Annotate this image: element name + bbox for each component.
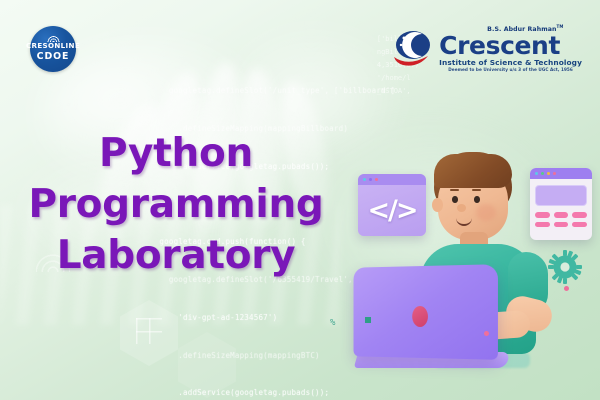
dot-decoration bbox=[564, 286, 569, 291]
eye-left bbox=[452, 196, 458, 203]
nose bbox=[457, 204, 466, 212]
hexagon-watermark-icon bbox=[178, 332, 236, 398]
ear bbox=[432, 198, 443, 212]
cresonline-cdoe-logo[interactable]: CRESONLINE CDOE bbox=[30, 26, 76, 72]
eyebrow-left bbox=[450, 189, 459, 191]
course-banner: googletag.defineSlot('/unit_type', ['bil… bbox=[0, 0, 600, 400]
crescent-subtitle: Institute of Science & Technology bbox=[439, 58, 582, 67]
laptop-logo bbox=[412, 306, 428, 327]
laptop-lid bbox=[354, 264, 498, 360]
square-decoration bbox=[365, 317, 371, 323]
crescent-fineprint: Deemed to be University u/s 3 of the UGC… bbox=[439, 67, 582, 73]
programmer-with-laptop-illustration: </> bbox=[348, 146, 600, 400]
title-line-3: Laboratory bbox=[0, 230, 352, 281]
title-line-1: Python bbox=[0, 128, 352, 179]
eyebrow-right bbox=[472, 189, 481, 191]
page-title: Python Programming Laboratory bbox=[0, 128, 352, 281]
title-line-2: Programming bbox=[0, 179, 352, 230]
crescent-institute-logo[interactable]: B.S. Abdur RahmanTM Crescent Institute o… bbox=[392, 22, 582, 73]
dot-decoration bbox=[484, 331, 489, 336]
cdoe-logo-line1: CRESONLINE bbox=[26, 42, 80, 50]
hair-front bbox=[434, 154, 512, 188]
cdoe-logo-line2: CDOE bbox=[37, 51, 70, 63]
eye-right bbox=[474, 196, 480, 203]
cheek bbox=[476, 204, 496, 221]
laptop bbox=[350, 266, 508, 378]
crescent-moon-icon bbox=[392, 29, 436, 69]
hexagon-watermark-icon bbox=[120, 300, 178, 366]
grid-watermark-icon bbox=[136, 318, 162, 344]
code-accent-glyph: % bbox=[330, 318, 335, 328]
crescent-name: Crescent bbox=[439, 33, 582, 58]
